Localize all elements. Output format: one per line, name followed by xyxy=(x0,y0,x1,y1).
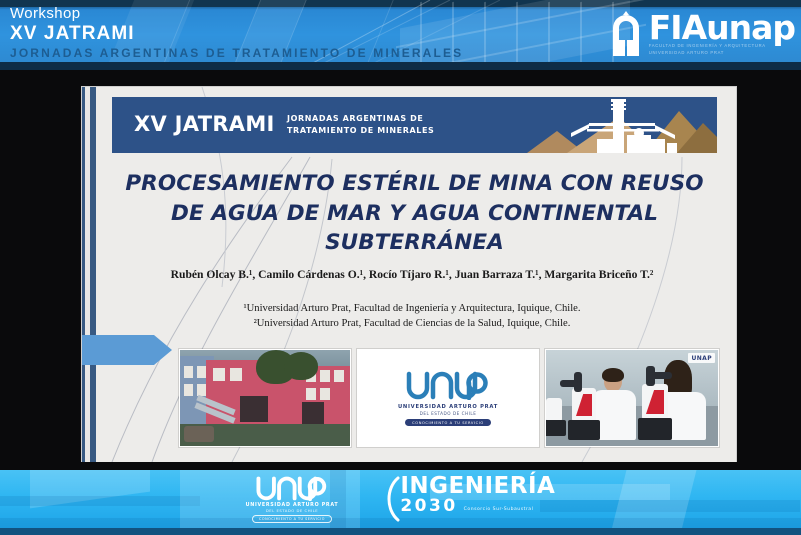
slide-event-title: XV JATRAMI xyxy=(134,112,275,136)
campus-entrance xyxy=(240,396,268,422)
affiliation-2: ²Universidad Arturo Prat, Facultad de Ci… xyxy=(112,316,712,331)
slide-event-subtitle-line2: TRATAMIENTO DE MINERALES xyxy=(287,125,434,137)
ingenieria-swoosh-icon xyxy=(384,476,400,522)
slide-affiliations: ¹Universidad Arturo Prat, Facultad de In… xyxy=(112,301,712,332)
banner-text-block: Workshop XV JATRAMI JORNADAS ARGENTINAS … xyxy=(10,6,463,59)
footer-unap-logo: UNIVERSIDAD ARTURO PRAT DEL ESTADO DE CH… xyxy=(246,475,339,524)
footer-ingenieria-text: INGENIERÍA 2030 Consorcio Sur-Subaustral xyxy=(400,476,555,515)
campus-window xyxy=(230,368,242,381)
microscope-base xyxy=(568,420,600,440)
ingenieria-year-row: 2030 Consorcio Sur-Subaustral xyxy=(400,498,555,515)
blue-arrow-shape xyxy=(82,333,172,367)
microscope-body xyxy=(546,398,562,422)
campus-window xyxy=(184,384,193,396)
footer-unap-line-2: DEL ESTADO DE CHILE xyxy=(266,508,318,513)
campus-photo xyxy=(179,349,351,447)
campus-window xyxy=(213,368,225,381)
slide-left-accent-bar xyxy=(82,87,96,462)
unap-wordmark-icon xyxy=(405,370,491,400)
campus-window xyxy=(184,366,193,378)
footer-unap-wordmark-icon xyxy=(255,475,329,501)
footer-bottom-strip xyxy=(0,528,801,535)
ingenieria-tagline: Consorcio Sur-Subaustral xyxy=(464,507,534,515)
unap-logo-photo: UNIVERSIDAD ARTURO PRAT DEL ESTADO DE CH… xyxy=(357,349,539,447)
slide-title-line-3: SUBTERRÁNEA xyxy=(122,228,707,258)
slide-title-line-2: DE AGUA DE MAR Y AGUA CONTINENTAL xyxy=(122,199,707,229)
campus-doorway xyxy=(302,402,324,424)
microscope-eyepiece xyxy=(652,372,672,379)
fia-arch-icon xyxy=(605,10,647,58)
footer-logo-row: UNIVERSIDAD ARTURO PRAT DEL ESTADO DE CH… xyxy=(0,470,801,528)
event-subtitle: JORNADAS ARGENTINAS DE TRATAMIENTO DE MI… xyxy=(10,47,463,59)
ingenieria-year: 2030 xyxy=(400,498,457,515)
slide-main-title: PROCESAMIENTO ESTÉRIL DE MINA CON REUSO … xyxy=(122,169,707,258)
fiaunap-logo: FIAunap FACULTAD DE INGENIERÍA Y ARQUITE… xyxy=(605,6,795,62)
slide-event-subtitle: JORNADAS ARGENTINAS DE TRATAMIENTO DE MI… xyxy=(287,113,434,136)
microscope-base xyxy=(638,418,672,440)
microscope-base xyxy=(545,420,566,436)
fia-wordmark-block: FIAunap FACULTAD DE INGENIERÍA Y ARQUITE… xyxy=(649,12,795,56)
sponsor-footer-band: UNIVERSIDAD ARTURO PRAT DEL ESTADO DE CH… xyxy=(0,470,801,528)
slide-title-line-1: PROCESAMIENTO ESTÉRIL DE MINA CON REUSO xyxy=(122,169,707,199)
unap-logo-block: UNIVERSIDAD ARTURO PRAT DEL ESTADO DE CH… xyxy=(358,350,538,446)
laboratory-photo: UNAP xyxy=(545,349,719,447)
workshop-label: Workshop xyxy=(10,6,463,21)
event-title: XV JATRAMI xyxy=(10,24,463,43)
unap-logo-pill: CONOCIMIENTO A TU SERVICIO xyxy=(405,419,491,426)
campus-window xyxy=(320,370,330,382)
footer-unap-pill: CONOCIMIENTO A TU SERVICIO xyxy=(252,515,332,523)
slide-footer-gap xyxy=(0,462,801,470)
microscope-eyepiece xyxy=(560,380,578,387)
slide-photo-strip: UNIVERSIDAD ARTURO PRAT DEL ESTADO DE CH… xyxy=(179,349,719,445)
event-header-banner: Workshop XV JATRAMI JORNADAS ARGENTINAS … xyxy=(0,0,801,70)
slide-left-accent-inner xyxy=(85,87,90,462)
fia-tagline-2: UNIVERSIDAD ARTURO PRAT xyxy=(649,50,795,56)
unap-logo-line-1: UNIVERSIDAD ARTURO PRAT xyxy=(398,404,498,410)
presentation-screenshot: Workshop XV JATRAMI JORNADAS ARGENTINAS … xyxy=(0,0,801,535)
unap-watermark: UNAP xyxy=(688,353,715,363)
slide-authors-line: Rubén Olcay B.¹, Camilo Cárdenas O.¹, Ro… xyxy=(112,268,712,281)
lab-person-hair xyxy=(602,368,624,382)
campus-tree xyxy=(284,352,318,380)
presentation-slide: XV JATRAMI JORNADAS ARGENTINAS DE TRATAM… xyxy=(82,87,736,462)
slide-event-subtitle-line1: JORNADAS ARGENTINAS DE xyxy=(287,113,434,125)
mining-plant-illustration xyxy=(527,97,717,153)
ingenieria-label: INGENIERÍA xyxy=(400,476,555,498)
campus-window xyxy=(320,388,330,400)
campus-window xyxy=(334,370,344,382)
unap-logo-line-2: DEL ESTADO DE CHILE xyxy=(420,411,477,416)
campus-planter xyxy=(184,426,214,442)
fia-wordmark-text: FIAunap xyxy=(649,12,795,43)
affiliation-1: ¹Universidad Arturo Prat, Facultad de In… xyxy=(112,301,712,316)
campus-window xyxy=(197,366,206,378)
slide-header-band: XV JATRAMI JORNADAS ARGENTINAS DE TRATAM… xyxy=(112,97,717,153)
banner-bottom-strip xyxy=(0,62,801,70)
footer-ingenieria-logo: INGENIERÍA 2030 Consorcio Sur-Subaustral xyxy=(384,476,555,522)
campus-window xyxy=(306,388,316,400)
